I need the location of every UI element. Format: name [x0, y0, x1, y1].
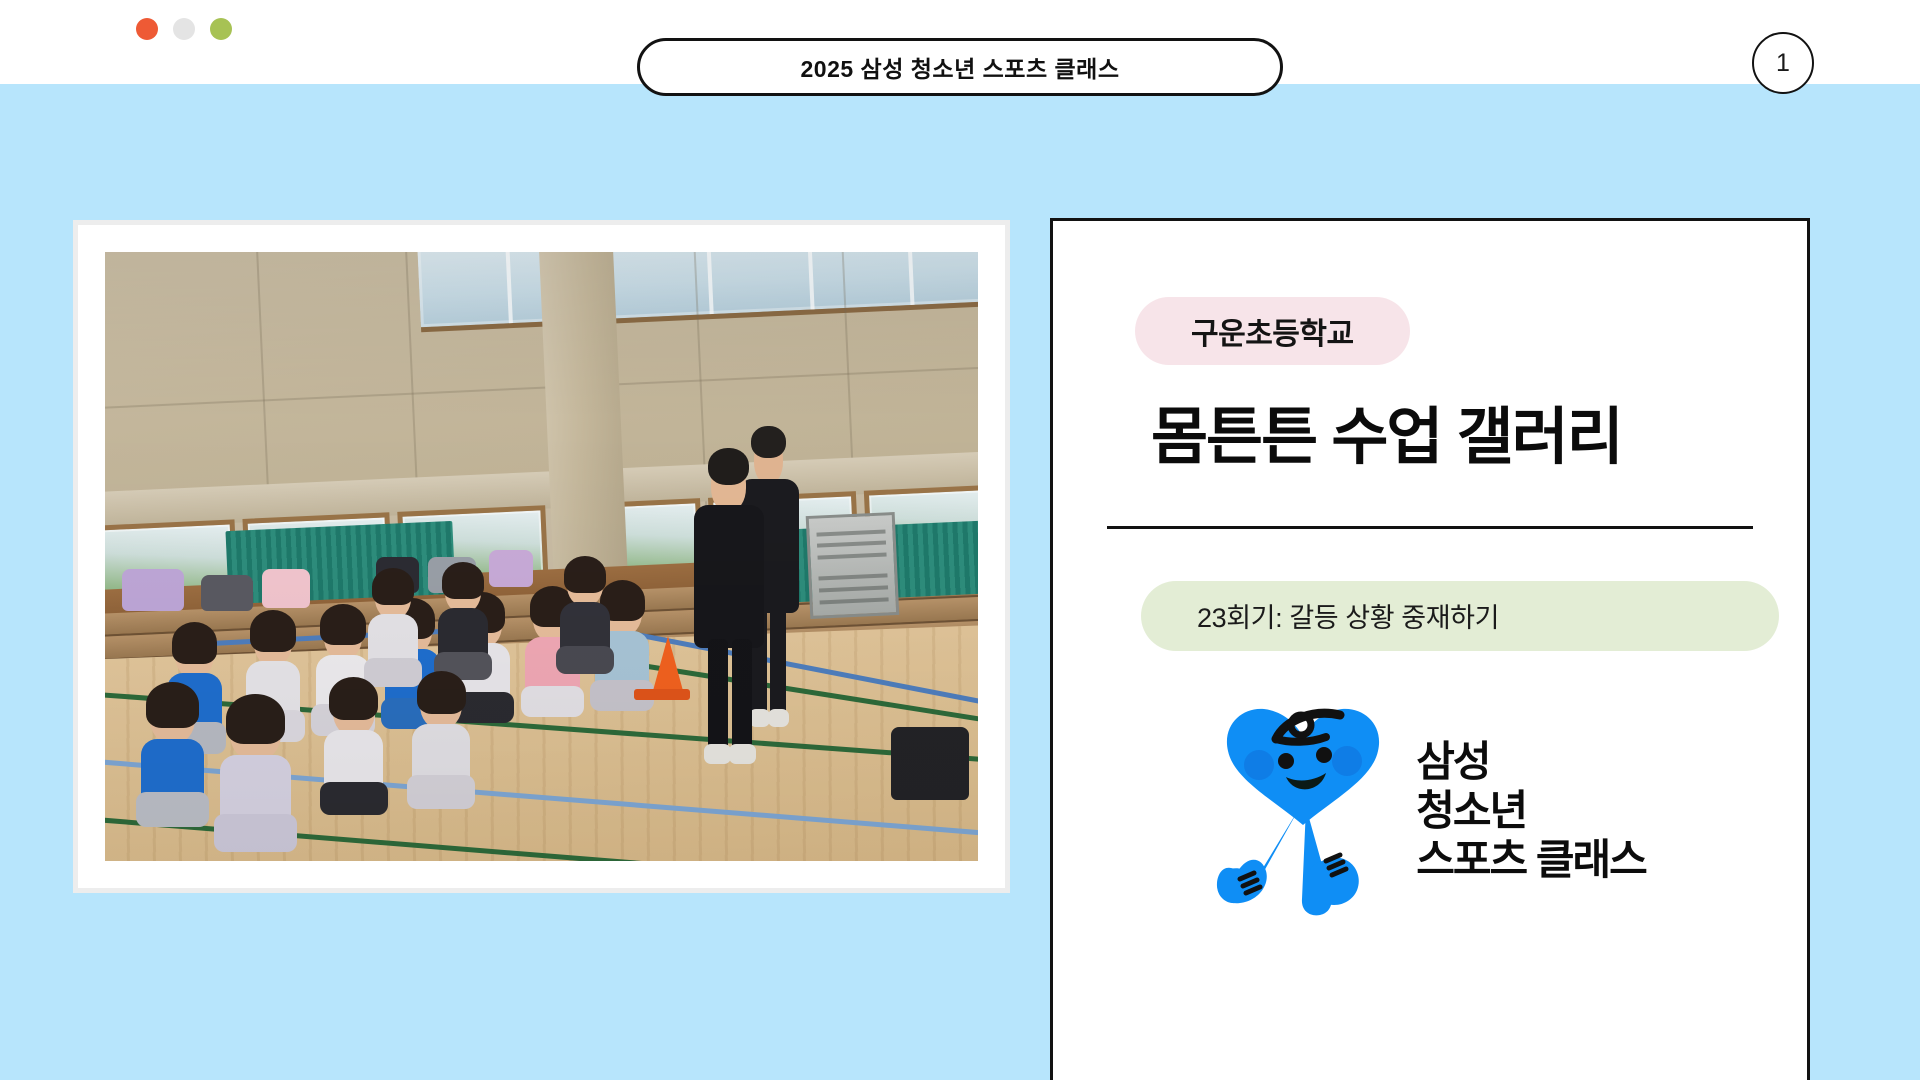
program-logo: 삼성 청소년 스포츠 클래스 — [1097, 703, 1763, 919]
slide: 2025 삼성 청소년 스포츠 클래스 1 — [0, 0, 1920, 1080]
session-label: 23회기: 갈등 상황 중재하기 — [1197, 596, 1499, 635]
logo-line-2: 청소년 — [1416, 787, 1646, 834]
logo-line-1: 삼성 — [1416, 738, 1646, 785]
maximize-dot[interactable] — [210, 18, 232, 40]
photo-vignette — [105, 252, 978, 861]
samsung-youth-sports-class-mascot-icon — [1214, 703, 1392, 919]
info-panel-inner: 구운초등학교 몸튼튼 수업 갤러리 23회기: 갈등 상황 중재하기 — [1053, 221, 1807, 919]
close-dot[interactable] — [136, 18, 158, 40]
window-controls — [136, 18, 232, 40]
page-number: 1 — [1776, 49, 1790, 78]
class-photo — [105, 252, 978, 861]
minimize-dot[interactable] — [173, 18, 195, 40]
header-title: 2025 삼성 청소년 스포츠 클래스 — [801, 50, 1120, 84]
page-title: 몸튼튼 수업 갤러리 — [1151, 405, 1763, 472]
info-panel: 구운초등학교 몸튼튼 수업 갤러리 23회기: 갈등 상황 중재하기 — [1050, 218, 1810, 1080]
title-divider — [1107, 526, 1753, 529]
program-logo-text: 삼성 청소년 스포츠 클래스 — [1416, 738, 1646, 883]
logo-line-3: 스포츠 클래스 — [1416, 836, 1646, 883]
school-name-pill: 구운초등학교 — [1135, 297, 1410, 365]
photo-frame — [73, 220, 1010, 893]
page-number-badge: 1 — [1752, 32, 1814, 94]
school-name: 구운초등학교 — [1191, 309, 1354, 353]
photo-mat — [78, 225, 1005, 888]
session-pill: 23회기: 갈등 상황 중재하기 — [1141, 581, 1779, 651]
header-title-pill: 2025 삼성 청소년 스포츠 클래스 — [637, 38, 1283, 96]
